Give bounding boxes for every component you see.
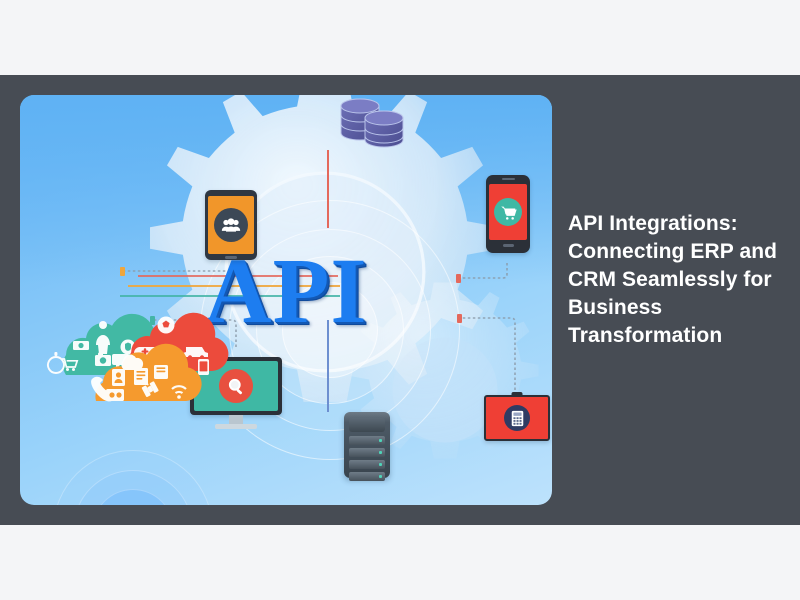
calculator-icon — [511, 410, 524, 427]
server-slot — [349, 472, 385, 481]
server-slot — [349, 460, 385, 469]
illustration-card: API — [20, 95, 552, 505]
server-slot — [349, 436, 385, 445]
cart-badge — [494, 198, 522, 226]
magnifier-icon — [227, 377, 246, 396]
server-head — [349, 418, 385, 432]
tablet-users[interactable] — [205, 190, 257, 260]
pos-badge — [504, 405, 530, 431]
server-slot — [349, 448, 385, 457]
cloud-services-cluster — [42, 303, 227, 418]
pos-terminal[interactable] — [484, 395, 550, 441]
database-cylinders — [335, 95, 407, 155]
users-badge — [214, 208, 248, 242]
banner-title: API Integrations: Connecting ERP and CRM… — [568, 210, 780, 350]
shopping-cart-icon — [500, 205, 517, 220]
cloud-services-orange — [76, 335, 210, 407]
server-rack[interactable] — [344, 412, 390, 478]
phone-ecommerce[interactable] — [486, 175, 530, 253]
users-icon — [221, 218, 241, 232]
